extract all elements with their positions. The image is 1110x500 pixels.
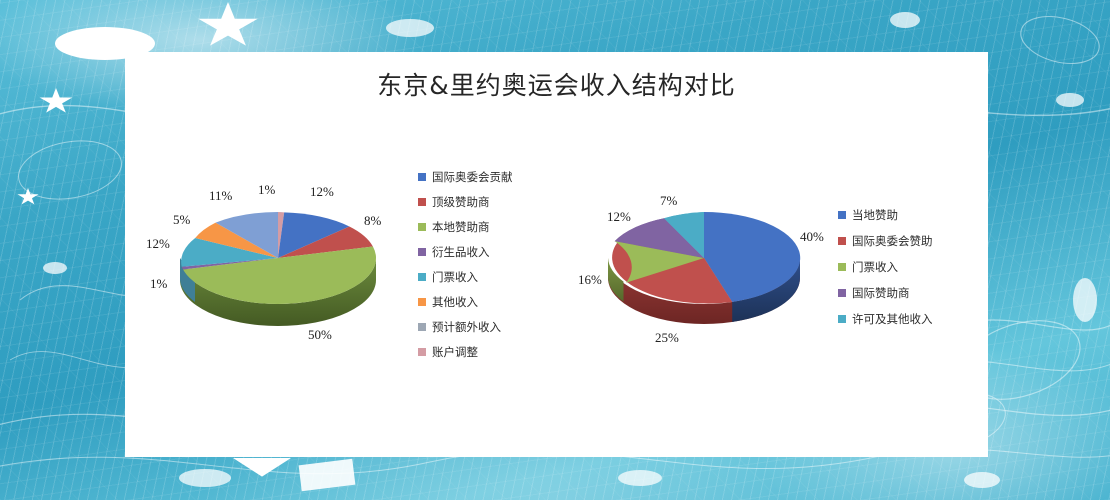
legend-label: 许可及其他收入 xyxy=(852,311,933,327)
legend-item-ioc-contribution[interactable]: 国际奥委会贡献 xyxy=(418,164,513,189)
legend-swatch-icon xyxy=(418,173,426,181)
legend-item-top-sponsor[interactable]: 顶级赞助商 xyxy=(418,189,513,214)
data-label: 12% xyxy=(146,236,170,252)
legend-swatch-icon xyxy=(418,348,426,356)
legend-label: 国际奥委会贡献 xyxy=(432,169,513,185)
legend-label: 顶级赞助商 xyxy=(432,194,490,210)
data-label: 7% xyxy=(660,193,677,209)
legend-swatch-icon xyxy=(418,198,426,206)
data-label: 1% xyxy=(258,182,275,198)
legend-item-other-income[interactable]: 其他收入 xyxy=(418,289,513,314)
legend-label: 国际赞助商 xyxy=(852,285,910,301)
data-label: 1% xyxy=(150,276,167,292)
legend-label: 衍生品收入 xyxy=(432,244,490,260)
slide-canvas: 东京&里约奥运会收入结构对比 xyxy=(0,0,1110,500)
legend-swatch-icon xyxy=(418,223,426,231)
data-label: 8% xyxy=(364,213,381,229)
legend-label: 门票收入 xyxy=(432,269,478,285)
legend-label: 账户调整 xyxy=(432,344,478,360)
legend-item-ioc-sponsorship[interactable]: 国际奥委会赞助 xyxy=(838,228,933,254)
legend-label: 门票收入 xyxy=(852,259,898,275)
data-label: 11% xyxy=(209,188,232,204)
data-label: 12% xyxy=(607,209,631,225)
legend-item-international-sponsor[interactable]: 国际赞助商 xyxy=(838,280,933,306)
data-label: 12% xyxy=(310,184,334,200)
legend-item-derivative-income[interactable]: 衍生品收入 xyxy=(418,239,513,264)
legend-swatch-icon xyxy=(838,315,846,323)
data-label: 50% xyxy=(308,327,332,343)
right-chart-legend: 当地赞助 国际奥委会赞助 门票收入 国际赞助商 许可及其他收入 xyxy=(838,202,933,332)
legend-label: 预计额外收入 xyxy=(432,319,501,335)
legend-label: 其他收入 xyxy=(432,294,478,310)
left-chart-legend: 国际奥委会贡献 顶级赞助商 本地赞助商 衍生品收入 门票收入 其他收入 预计额外… xyxy=(418,164,513,364)
legend-swatch-icon xyxy=(838,263,846,271)
chart-title: 东京&里约奥运会收入结构对比 xyxy=(125,66,988,102)
legend-label: 国际奥委会赞助 xyxy=(852,233,933,249)
legend-item-local-sponsor[interactable]: 本地赞助商 xyxy=(418,214,513,239)
legend-label: 本地赞助商 xyxy=(432,219,490,235)
legend-swatch-icon xyxy=(838,289,846,297)
legend-item-local-sponsorship[interactable]: 当地赞助 xyxy=(838,202,933,228)
legend-label: 当地赞助 xyxy=(852,207,898,223)
data-label: 25% xyxy=(655,330,679,346)
legend-swatch-icon xyxy=(418,273,426,281)
legend-item-licensing-other-income[interactable]: 许可及其他收入 xyxy=(838,306,933,332)
legend-swatch-icon xyxy=(418,298,426,306)
legend-swatch-icon xyxy=(418,248,426,256)
legend-swatch-icon xyxy=(418,323,426,331)
legend-item-expected-extra-income[interactable]: 预计额外收入 xyxy=(418,314,513,339)
data-label: 40% xyxy=(800,229,824,245)
data-label: 16% xyxy=(578,272,602,288)
legend-item-ticket-income[interactable]: 门票收入 xyxy=(418,264,513,289)
legend-swatch-icon xyxy=(838,237,846,245)
legend-item-account-adjustment[interactable]: 账户调整 xyxy=(418,339,513,364)
legend-item-ticket-income[interactable]: 门票收入 xyxy=(838,254,933,280)
legend-swatch-icon xyxy=(838,211,846,219)
data-label: 5% xyxy=(173,212,190,228)
